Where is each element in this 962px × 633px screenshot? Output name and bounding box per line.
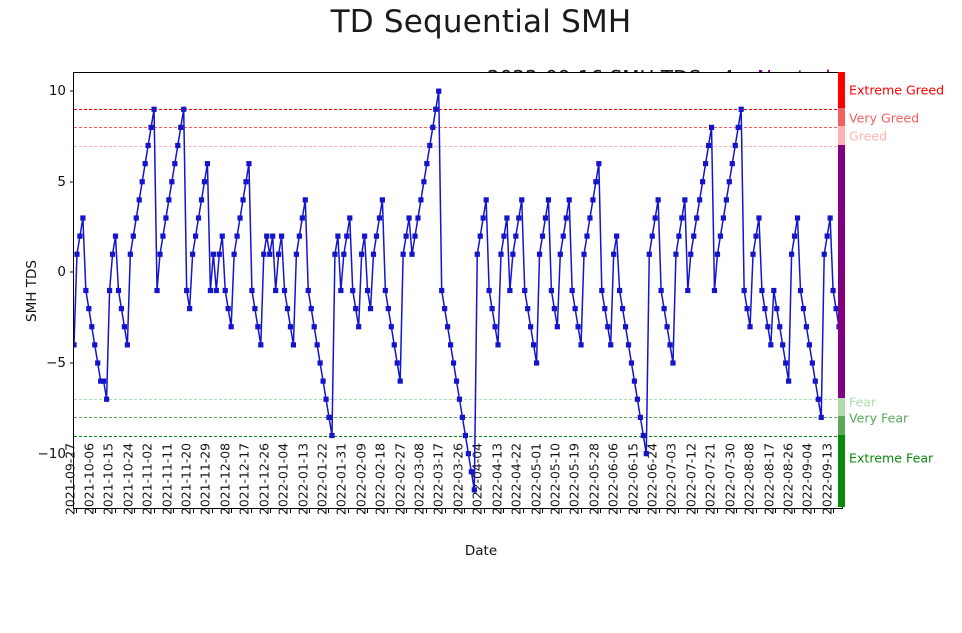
data-point (519, 197, 524, 202)
data-point (733, 143, 738, 148)
data-point (552, 306, 557, 311)
data-point (371, 252, 376, 257)
data-point (626, 342, 631, 347)
data-point (792, 234, 797, 239)
data-point (401, 252, 406, 257)
data-point (546, 197, 551, 202)
data-point (202, 179, 207, 184)
data-point (828, 215, 833, 220)
data-point (365, 288, 370, 293)
data-point (249, 288, 254, 293)
chart-page: TD Sequential SMH 2022-09-16 SMH TDS: -4… (0, 0, 962, 633)
data-point (599, 288, 604, 293)
data-point (190, 252, 195, 257)
data-point (768, 342, 773, 347)
data-point (267, 252, 272, 257)
data-point (611, 252, 616, 257)
data-point (143, 161, 148, 166)
data-point (492, 324, 497, 329)
data-point (300, 215, 305, 220)
data-point (774, 306, 779, 311)
data-point (487, 288, 492, 293)
data-point (756, 215, 761, 220)
data-point (641, 433, 646, 438)
data-point (386, 306, 391, 311)
data-point (451, 360, 456, 365)
data-point (531, 342, 536, 347)
data-point (146, 143, 151, 148)
data-point (575, 324, 580, 329)
data-point (157, 252, 162, 257)
gauge-label-greed: Greed (849, 129, 887, 144)
data-point (736, 125, 741, 130)
y-tick-label: −5 (46, 355, 74, 371)
data-point (312, 324, 317, 329)
data-point (727, 179, 732, 184)
data-point (137, 197, 142, 202)
data-point (804, 324, 809, 329)
data-point (685, 288, 690, 293)
data-point (95, 360, 100, 365)
data-point (424, 161, 429, 166)
data-point (270, 234, 275, 239)
data-point (587, 215, 592, 220)
data-point (315, 342, 320, 347)
data-point (172, 161, 177, 166)
data-point (92, 342, 97, 347)
data-point (661, 306, 666, 311)
data-point (528, 324, 533, 329)
data-point (706, 143, 711, 148)
data-point (703, 161, 708, 166)
data-point (205, 161, 210, 166)
data-point (679, 215, 684, 220)
data-point (750, 252, 755, 257)
data-point (742, 288, 747, 293)
data-point (745, 306, 750, 311)
data-point (570, 288, 575, 293)
data-point (211, 252, 216, 257)
data-point (561, 234, 566, 239)
data-point (362, 234, 367, 239)
data-point (392, 342, 397, 347)
data-point (208, 288, 213, 293)
data-point (448, 342, 453, 347)
data-point (178, 125, 183, 130)
data-point (501, 234, 506, 239)
data-point (163, 215, 168, 220)
data-point (644, 451, 649, 456)
data-point (460, 415, 465, 420)
data-point (320, 379, 325, 384)
gauge-segment-neutral (838, 145, 845, 399)
data-point (291, 342, 296, 347)
data-point (789, 252, 794, 257)
data-point (258, 342, 263, 347)
data-point (596, 161, 601, 166)
data-point (795, 215, 800, 220)
data-point (199, 197, 204, 202)
data-point (294, 252, 299, 257)
data-point (323, 397, 328, 402)
data-point (798, 288, 803, 293)
tds-series (74, 73, 842, 508)
data-point (635, 397, 640, 402)
data-point (246, 161, 251, 166)
data-point (549, 288, 554, 293)
data-point (223, 288, 228, 293)
data-point (436, 89, 441, 94)
data-point (620, 306, 625, 311)
data-point (801, 306, 806, 311)
data-point (220, 234, 225, 239)
plot-area: SMH TDS 1050−5−10 2021-09-272021-10-0620… (73, 72, 843, 509)
data-point (433, 107, 438, 112)
data-point (237, 215, 242, 220)
gauge-label-very-fear: Very Fear (849, 411, 908, 426)
data-point (418, 197, 423, 202)
data-point (279, 234, 284, 239)
data-point (421, 179, 426, 184)
data-point (721, 215, 726, 220)
data-point (77, 234, 82, 239)
data-point (406, 215, 411, 220)
data-point (243, 179, 248, 184)
data-point (409, 252, 414, 257)
data-point (650, 234, 655, 239)
data-point (670, 360, 675, 365)
data-point (442, 306, 447, 311)
page-title: TD Sequential SMH (0, 4, 962, 40)
data-point (697, 197, 702, 202)
data-point (783, 360, 788, 365)
data-point (807, 342, 812, 347)
data-point (80, 215, 85, 220)
y-tick-label: 0 (57, 264, 74, 280)
data-point (335, 234, 340, 239)
data-point (825, 234, 830, 239)
data-point (510, 252, 515, 257)
plot-clip (74, 73, 842, 508)
data-point (110, 252, 115, 257)
data-point (134, 215, 139, 220)
data-point (398, 379, 403, 384)
data-point (730, 161, 735, 166)
data-point (415, 215, 420, 220)
data-point (567, 197, 572, 202)
data-point (676, 234, 681, 239)
data-point (338, 288, 343, 293)
data-point (404, 234, 409, 239)
data-point (276, 252, 281, 257)
data-point (181, 107, 186, 112)
data-point (395, 360, 400, 365)
data-point (229, 324, 234, 329)
data-point (614, 234, 619, 239)
data-point (318, 360, 323, 365)
data-point (700, 179, 705, 184)
data-point (160, 234, 165, 239)
data-point (154, 288, 159, 293)
data-point (273, 288, 278, 293)
data-point (484, 197, 489, 202)
data-point (780, 342, 785, 347)
data-point (184, 288, 189, 293)
data-point (673, 252, 678, 257)
data-point (261, 252, 266, 257)
data-point (659, 288, 664, 293)
data-point (516, 215, 521, 220)
y-tick-label: 5 (57, 174, 74, 190)
data-point (590, 197, 595, 202)
data-point (638, 415, 643, 420)
data-point (656, 197, 661, 202)
data-point (584, 234, 589, 239)
data-point (353, 306, 358, 311)
data-point (374, 234, 379, 239)
data-point (694, 215, 699, 220)
data-point (217, 252, 222, 257)
data-point (226, 306, 231, 311)
data-point (193, 234, 198, 239)
data-point (341, 252, 346, 257)
gauge-label-very-greed: Very Greed (849, 111, 919, 126)
data-point (240, 197, 245, 202)
data-point (771, 288, 776, 293)
sentiment-gauge-bar (838, 72, 845, 509)
data-point (623, 324, 628, 329)
data-point (813, 379, 818, 384)
data-point (819, 415, 824, 420)
data-point (454, 379, 459, 384)
data-point (368, 306, 373, 311)
data-point (175, 143, 180, 148)
data-point (664, 324, 669, 329)
gauge-segment-fear (838, 398, 845, 416)
data-point (288, 324, 293, 329)
y-tick-label: 10 (49, 83, 74, 99)
data-point (534, 360, 539, 365)
data-point (777, 324, 782, 329)
data-point (74, 342, 77, 347)
data-point (125, 342, 130, 347)
data-point (166, 197, 171, 202)
data-point (498, 252, 503, 257)
data-point (537, 252, 542, 257)
data-point (724, 197, 729, 202)
data-point (86, 306, 91, 311)
data-point (187, 306, 192, 311)
data-point (605, 324, 610, 329)
data-point (513, 234, 518, 239)
data-point (602, 306, 607, 311)
data-point (149, 125, 154, 130)
data-point (466, 451, 471, 456)
data-point (389, 324, 394, 329)
data-point (326, 415, 331, 420)
data-point (573, 306, 578, 311)
data-point (463, 433, 468, 438)
data-point (285, 306, 290, 311)
data-point (383, 288, 388, 293)
data-point (682, 197, 687, 202)
data-point (107, 288, 112, 293)
data-point (264, 234, 269, 239)
data-point (632, 379, 637, 384)
data-point (504, 215, 509, 220)
data-point (128, 252, 133, 257)
data-point (169, 179, 174, 184)
data-point (578, 342, 583, 347)
data-point (608, 342, 613, 347)
data-point (122, 324, 127, 329)
data-point (647, 252, 652, 257)
data-point (688, 252, 693, 257)
data-point (753, 234, 758, 239)
data-point (495, 342, 500, 347)
data-point (558, 252, 563, 257)
data-point (380, 197, 385, 202)
gauge-segment-extreme-greed (838, 72, 845, 108)
data-point (89, 324, 94, 329)
data-point (709, 125, 714, 130)
data-point (255, 324, 260, 329)
data-point (282, 288, 287, 293)
data-point (303, 197, 308, 202)
gauge-label-extreme-greed: Extreme Greed (849, 83, 944, 98)
data-point (759, 288, 764, 293)
data-point (712, 288, 717, 293)
data-point (131, 234, 136, 239)
data-point (810, 360, 815, 365)
data-point (525, 306, 530, 311)
data-point (555, 324, 560, 329)
data-point (113, 234, 118, 239)
data-point (445, 324, 450, 329)
data-point (116, 288, 121, 293)
data-point (297, 234, 302, 239)
data-point (232, 252, 237, 257)
data-point (309, 306, 314, 311)
data-point (356, 324, 361, 329)
data-point (522, 288, 527, 293)
data-point (481, 215, 486, 220)
data-point (412, 234, 417, 239)
data-point (350, 288, 355, 293)
data-point (816, 397, 821, 402)
data-point (765, 324, 770, 329)
data-point (617, 288, 622, 293)
data-point (104, 397, 109, 402)
data-point (140, 179, 145, 184)
data-point (344, 234, 349, 239)
data-point (786, 379, 791, 384)
data-point (359, 252, 364, 257)
y-axis-label: SMH TDS (24, 260, 40, 322)
data-point (718, 234, 723, 239)
data-point (329, 433, 334, 438)
data-point (715, 252, 720, 257)
data-point (581, 252, 586, 257)
data-point (543, 215, 548, 220)
gauge-segment-very-greed (838, 108, 845, 126)
data-point (430, 125, 435, 130)
data-point (540, 234, 545, 239)
data-point (74, 252, 79, 257)
data-point (478, 234, 483, 239)
data-point (234, 234, 239, 239)
data-point (822, 252, 827, 257)
data-point (196, 215, 201, 220)
data-point (469, 469, 474, 474)
data-point (83, 288, 88, 293)
data-point (667, 342, 672, 347)
data-point (427, 143, 432, 148)
data-point (306, 288, 311, 293)
x-axis-label: Date (465, 543, 497, 559)
data-point (475, 252, 480, 257)
data-point (151, 107, 156, 112)
data-point (629, 360, 634, 365)
data-point (653, 215, 658, 220)
gauge-segment-extreme-fear (838, 435, 845, 508)
data-point (739, 107, 744, 112)
data-point (457, 397, 462, 402)
data-point (691, 234, 696, 239)
data-point (119, 306, 124, 311)
data-point (377, 215, 382, 220)
data-point (101, 379, 106, 384)
data-point (490, 306, 495, 311)
data-point (831, 288, 836, 293)
data-point (347, 215, 352, 220)
gauge-segment-very-fear (838, 416, 845, 434)
gauge-label-extreme-fear: Extreme Fear (849, 451, 933, 466)
data-point (593, 179, 598, 184)
data-point (332, 252, 337, 257)
data-point (252, 306, 257, 311)
data-point (214, 288, 219, 293)
data-point (472, 487, 477, 492)
data-point (747, 324, 752, 329)
data-point (762, 306, 767, 311)
data-point (507, 288, 512, 293)
gauge-label-fear: Fear (849, 394, 876, 409)
gauge-segment-greed (838, 126, 845, 144)
data-point (439, 288, 444, 293)
data-point (564, 215, 569, 220)
